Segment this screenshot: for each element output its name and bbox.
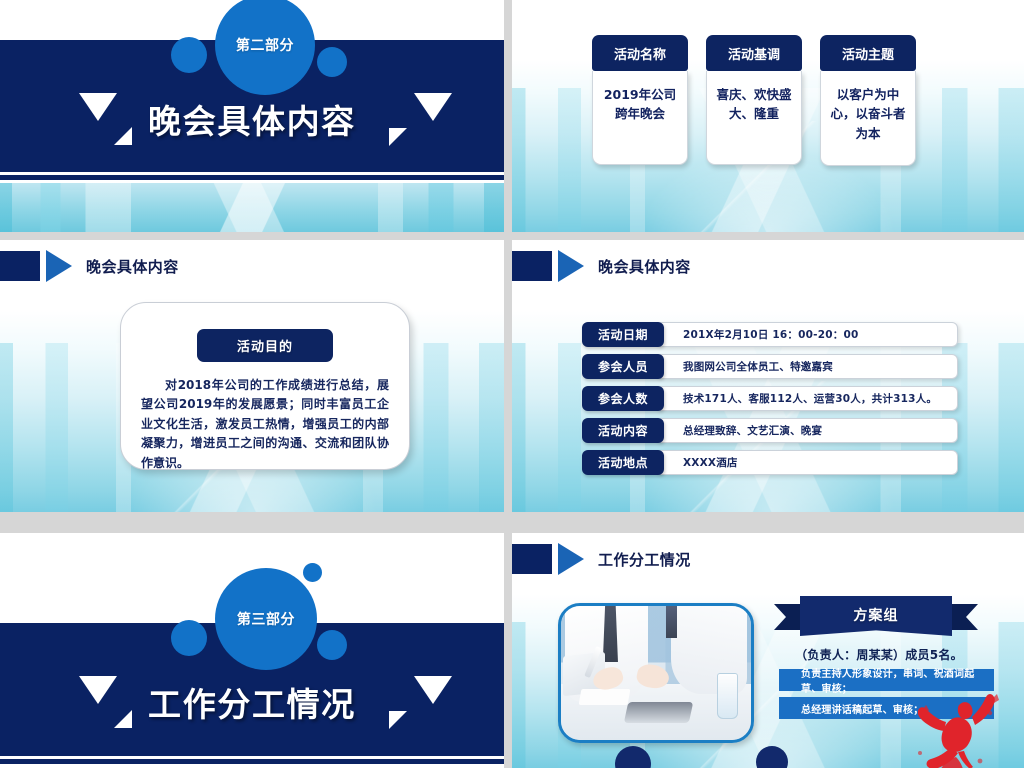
duty-bar-1[interactable]: 负责主持人形象设计，串词、祝酒词起草、审核； (779, 669, 994, 691)
slide-6-team-assignment[interactable]: 工作分工情况 方案组 （负责人：周某某）成员5名。 (512, 533, 1024, 768)
slide6-header: 工作分工情况 (526, 543, 691, 575)
card-body: 2019年公司跨年晚会 (592, 71, 688, 165)
table-row[interactable]: 参会人员 我图网公司全体员工、特邀嘉宾 (582, 354, 958, 379)
slide1-cyan-footer (0, 183, 504, 232)
row-label: 活动地点 (582, 450, 664, 475)
slide5-title: 工作分工情况 (0, 678, 504, 726)
row-value: 总经理致辞、文艺汇演、晚宴 (656, 418, 958, 443)
row-value: 我图网公司全体员工、特邀嘉宾 (656, 354, 958, 379)
purpose-card[interactable]: 活动目的 对2018年公司的工作成绩进行总结，展望公司2019年的发展愿景；同时… (120, 302, 410, 470)
table-row[interactable]: 参会人数 技术171人、客服112人、运营30人，共计313人。 (582, 386, 958, 411)
slide1-stripe-group (0, 172, 504, 183)
card-header: 活动基调 (706, 35, 802, 71)
table-row[interactable]: 活动地点 XXXX酒店 (582, 450, 958, 475)
slide3-header-title: 晚会具体内容 (86, 256, 179, 277)
slide-1-section-divider[interactable]: 第二部分 晚会具体内容 (0, 0, 504, 232)
slide1-title-text: 晚会具体内容 (148, 102, 356, 141)
header-navy-block (0, 251, 40, 281)
slide5-circle-topright (303, 563, 322, 582)
row-value: XXXX酒店 (656, 450, 958, 475)
team-owner-line: （负责人：周某某）成员5名。 (774, 646, 984, 663)
header-arrow-icon (558, 250, 584, 282)
slide5-section-badge[interactable]: 第三部分 (215, 568, 317, 670)
slide-5-section-divider[interactable]: 第三部分 工作分工情况 (0, 533, 504, 768)
header-arrow-icon (558, 543, 584, 575)
slide1-title: 晚会具体内容 (0, 95, 504, 143)
slide3-header: 晚会具体内容 (14, 250, 179, 282)
slide-2-three-cards[interactable]: 活动名称 2019年公司跨年晚会 活动基调 喜庆、欢快盛大、隆重 活动主题 以客… (512, 0, 1024, 232)
slide6-header-title: 工作分工情况 (598, 549, 691, 570)
slide5-title-text: 工作分工情况 (148, 685, 356, 724)
row-label: 活动日期 (582, 322, 664, 347)
event-detail-rows: 活动日期 201X年2月10日 16：00-20：00 参会人员 我图网公司全体… (582, 322, 958, 475)
card-header: 活动名称 (592, 35, 688, 71)
owner-line-text: （负责人：周某某）成员5名。 (795, 648, 963, 662)
slide5-circle-left (171, 620, 207, 656)
slide1-circle-left (171, 37, 207, 73)
slide2-card-row: 活动名称 2019年公司跨年晚会 活动基调 喜庆、欢快盛大、隆重 活动主题 以客… (592, 35, 916, 166)
row-label: 活动内容 (582, 418, 664, 443)
slide5-badge-label: 第三部分 (237, 609, 295, 629)
card-activity-theme[interactable]: 活动主题 以客户为中心，以奋斗者为本 (820, 35, 916, 166)
row-label: 参会人员 (582, 354, 664, 379)
purpose-label-button[interactable]: 活动目的 (197, 329, 333, 362)
header-arrow-icon (46, 250, 72, 282)
card-body: 喜庆、欢快盛大、隆重 (706, 71, 802, 165)
header-navy-block (512, 251, 552, 281)
red-splash-dancer-icon (902, 691, 1012, 768)
slide4-header: 晚会具体内容 (526, 250, 691, 282)
slide5-stripe-group (0, 756, 504, 767)
row-value: 技术171人、客服112人、运营30人，共计313人。 (656, 386, 958, 411)
team-ribbon: 方案组 (800, 596, 952, 636)
card-header: 活动主题 (820, 35, 916, 71)
purpose-paragraph: 对2018年公司的工作成绩进行总结，展望公司2019年的发展愿景；同时丰富员工企… (121, 362, 409, 473)
table-row[interactable]: 活动日期 201X年2月10日 16：00-20：00 (582, 322, 958, 347)
row-value: 201X年2月10日 16：00-20：00 (656, 322, 958, 347)
slide1-circle-right (317, 47, 347, 77)
slide-4-event-details[interactable]: 晚会具体内容 活动日期 201X年2月10日 16：00-20：00 参会人员 … (512, 240, 1024, 512)
slide4-header-title: 晚会具体内容 (598, 256, 691, 277)
header-navy-block (512, 544, 552, 574)
office-meeting-photo (558, 603, 754, 743)
card-activity-tone[interactable]: 活动基调 喜庆、欢快盛大、隆重 (706, 35, 802, 166)
card-activity-name[interactable]: 活动名称 2019年公司跨年晚会 (592, 35, 688, 166)
card-body: 以客户为中心，以奋斗者为本 (820, 71, 916, 166)
slide-3-activity-purpose[interactable]: 晚会具体内容 活动目的 对2018年公司的工作成绩进行总结，展望公司2019年的… (0, 240, 504, 512)
table-row[interactable]: 活动内容 总经理致辞、文艺汇演、晚宴 (582, 418, 958, 443)
slide1-badge-label: 第二部分 (236, 35, 294, 55)
slide5-circle-right (317, 630, 347, 660)
ribbon-title: 方案组 (800, 596, 952, 636)
slide-thumbnail-sheet: 第二部分 晚会具体内容 活动名称 2019年公司跨年晚会 活动基调 喜庆、欢快盛… (0, 0, 1024, 768)
row-label: 参会人数 (582, 386, 664, 411)
